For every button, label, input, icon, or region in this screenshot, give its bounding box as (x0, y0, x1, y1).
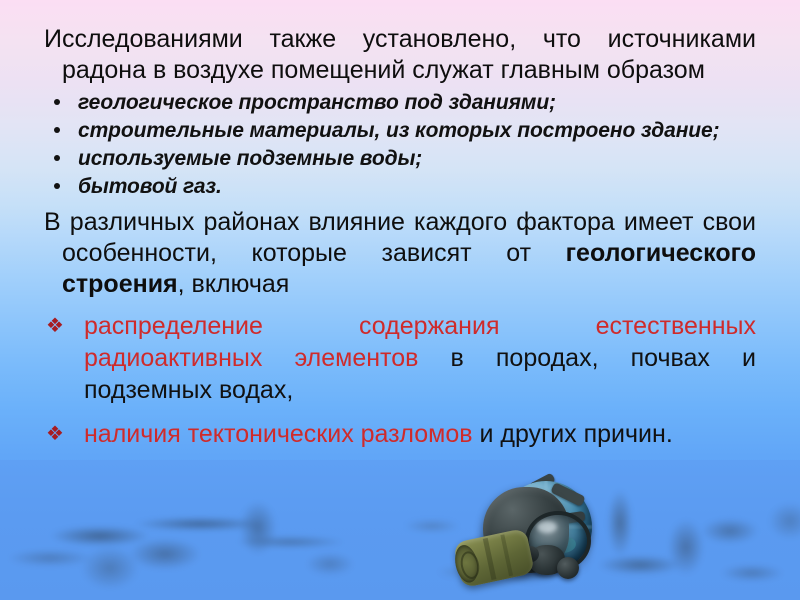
list-item: ❖наличия тектонических разломов и других… (44, 418, 756, 450)
diamond-bullet-icon: ❖ (46, 425, 64, 443)
smoke-wisps-left (0, 476, 410, 600)
list-item: используемые подземные воды; (44, 146, 756, 171)
list-item: строительные материалы, из которых постр… (44, 118, 756, 143)
bullet-dot-icon (54, 99, 60, 105)
list-item-label: строительные материалы, из которых постр… (78, 119, 720, 142)
factor-plain-text: и других причин. (473, 420, 673, 448)
list-item-label: бытовой газ. (78, 175, 222, 198)
radon-sources-list: геологическое пространство под зданиями;… (44, 90, 756, 199)
list-item: бытовой газ. (44, 174, 756, 199)
intro-paragraph: Исследованиями также установлено, что ис… (44, 24, 756, 86)
slide-text-content: Исследованиями также установлено, что ис… (0, 0, 800, 462)
second-paragraph-tail: , включая (178, 270, 290, 298)
canister-band (483, 538, 497, 580)
canister-band (500, 534, 513, 576)
list-item: ❖распределение содержания естественных р… (44, 310, 756, 406)
presentation-slide: Исследованиями также установлено, что ис… (0, 0, 800, 600)
bullet-dot-icon (54, 155, 60, 161)
factor-highlight-text: наличия тектонических разломов (84, 420, 473, 448)
bullet-dot-icon (54, 183, 60, 189)
visor-glare (537, 521, 557, 533)
diamond-bullet-icon: ❖ (46, 317, 64, 335)
second-paragraph: В различных районах влияние каждого факт… (44, 207, 756, 300)
illustration-band (0, 460, 800, 600)
list-item-label: геологическое пространство под зданиями; (78, 91, 556, 114)
list-item: геологическое пространство под зданиями; (44, 90, 756, 115)
mask-exhalation-valve (557, 557, 579, 579)
globe-gas-mask-figure (455, 473, 635, 598)
factors-list: ❖распределение содержания естественных р… (44, 310, 756, 450)
filter-canister-icon (453, 528, 535, 588)
bullet-dot-icon (54, 127, 60, 133)
list-item-label: используемые подземные воды; (78, 147, 422, 170)
